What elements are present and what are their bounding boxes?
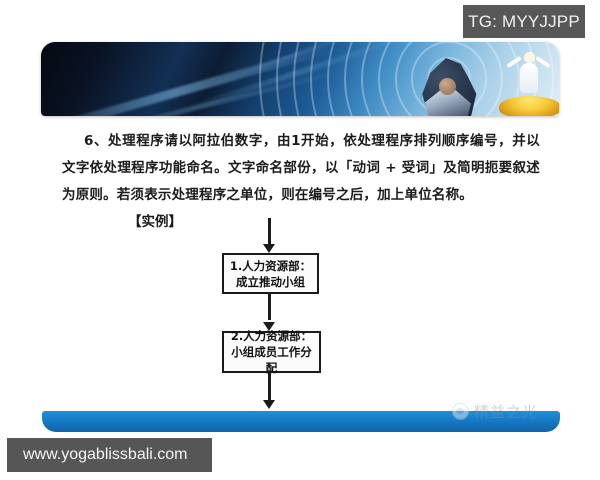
url-watermark-badge: www.yogablissbali.com — [7, 438, 212, 472]
flowchart-node-1[interactable]: 1.人力资源部：成立推动小组 — [222, 253, 319, 294]
connector-line-middle — [268, 294, 271, 320]
connector-line-top — [268, 218, 271, 246]
down-arrow-icon — [263, 400, 275, 409]
tg-watermark-badge: TG: MYYJJPP — [463, 5, 585, 38]
slide-footer-bar — [42, 411, 560, 432]
flowchart-node-1-label: 1.人力资源部：成立推动小组 — [229, 258, 312, 290]
connector-line-bottom — [268, 373, 271, 402]
slide-canvas: 6、处理程序请以阿拉伯数字，由1开始，依处理程序排列顺序编号，并以文字依处理程序… — [0, 0, 600, 480]
flowchart: 1.人力资源部：成立推动小组 2.人力资源部：小组成员工作分配 — [0, 0, 600, 480]
flowchart-node-2[interactable]: 2.人力资源部：小组成员工作分配 — [222, 331, 321, 373]
flowchart-node-2-label: 2.人力资源部：小组成员工作分配 — [229, 328, 314, 376]
down-arrow-icon — [263, 244, 275, 253]
